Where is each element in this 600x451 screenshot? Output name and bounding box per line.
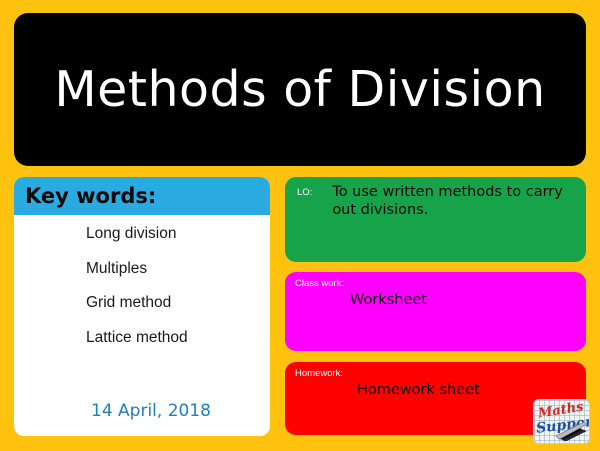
list-item: Long division <box>86 226 260 242</box>
maths-support-logo: Maths Support <box>533 399 590 444</box>
homework-text: Homework sheet <box>295 379 576 400</box>
list-item: Multiples <box>86 261 260 277</box>
class-work-label: Class work: <box>295 279 576 289</box>
learning-objective-text: To use written methods to carry out divi… <box>312 184 576 219</box>
key-words-header-label: Key words: <box>25 186 156 207</box>
key-words-list: Long division Multiples Grid method Latt… <box>14 215 270 403</box>
list-item: Lattice method <box>86 330 260 346</box>
class-work-panel: Class work: Worksheet <box>285 272 586 351</box>
homework-label: Homework: <box>295 369 576 379</box>
title-banner: Methods of Division <box>14 13 586 166</box>
key-words-card: Key words: Long division Multiples Grid … <box>14 177 270 436</box>
learning-objective-panel: LO: To use written methods to carry out … <box>285 177 586 262</box>
lesson-date: 14 April, 2018 <box>14 403 270 436</box>
pen-icon <box>554 419 588 441</box>
key-words-header: Key words: <box>14 177 270 215</box>
list-item: Grid method <box>86 295 260 311</box>
class-work-text: Worksheet <box>295 289 576 310</box>
learning-objective-label: LO: <box>295 184 312 198</box>
page-title: Methods of Division <box>54 65 545 114</box>
slide-canvas: Methods of Division Key words: Long divi… <box>0 0 600 451</box>
